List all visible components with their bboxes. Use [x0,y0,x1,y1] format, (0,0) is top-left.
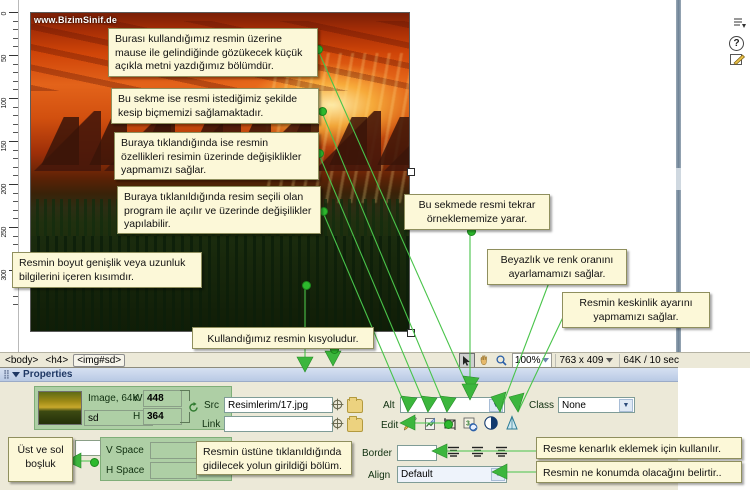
leader-dot [444,420,453,429]
ruler-tick [13,64,18,65]
resample-callout: Bu sekmede resmi tekrar örneklememize ya… [404,194,550,230]
ruler-tick [13,158,18,159]
chevron-down-icon[interactable]: ▼ [619,399,633,412]
edit-label: Edit [381,420,398,431]
window-size-combo[interactable]: 763 x 409 [555,354,616,367]
pencil-edit-icon[interactable] [402,416,418,432]
reset-size-icon[interactable] [188,402,199,416]
align-value: Default [401,469,433,480]
resize-handle-corner[interactable] [407,329,415,337]
ruler-tick [13,244,18,245]
class-label: Class [529,400,554,411]
align-center-icon[interactable] [471,446,485,457]
download-size: 64K / 10 sec [619,354,682,367]
status-bar-right: 100% 763 x 409 64K / 10 sec [459,353,682,368]
spacing-callout: Üst ve sol boşluk [8,437,73,482]
chevron-down-icon [606,358,613,363]
ruler-tick [13,167,18,168]
border-label: Border [362,448,392,459]
ruler-tick [13,81,18,82]
ruler-tick [13,296,18,297]
ruler-tick [9,98,18,99]
ruler-tick [9,227,18,228]
properties-panel-title: Properties [23,369,72,380]
leader-dot [90,458,99,467]
ruler-tick [13,210,18,211]
chevron-down-icon[interactable]: ▼ [491,468,505,481]
ruler-tick [13,201,18,202]
chevron-down-icon[interactable]: ▼ [489,399,503,412]
border-input[interactable] [397,445,437,461]
ruler-tick [13,46,18,47]
ruler-tick [13,304,18,305]
panel-options-icon[interactable] [734,18,746,28]
panel-grip-icon[interactable]: ⣿ [3,369,9,380]
properties-panel-header[interactable]: ⣿ Properties [0,368,678,382]
editprogram-callout: Buraya tıklanıldığında resim seçili olan… [117,186,321,234]
alt-callout: Burası kullandığımız resmin üzerine maus… [108,28,318,77]
ruler-tick [13,89,18,90]
width-label: W [133,393,142,404]
link-callout: Resmin üstüne tıklanıldığında gidilecek … [196,441,352,475]
ruler-tick [13,124,18,125]
ruler-tick [13,175,18,176]
size-bracket-top [180,390,190,401]
tag-selector[interactable]: <body> <h4> <img#sd> [0,354,125,367]
vspace-input[interactable] [150,442,197,459]
zoom-level-combo[interactable]: 100% [512,353,553,368]
ruler-tick [13,38,18,39]
brightness-callout: Beyazlık ve renk oranını ayarlamamızı sa… [487,249,627,285]
ruler-tick [13,132,18,133]
ruler-tick [13,193,18,194]
screenshot-root: 050100150200250300 www.BizimSinif.de <bo… [0,0,750,489]
ruler-label: 0 [1,12,8,16]
tag-img-sd[interactable]: <img#sd> [73,354,125,367]
quick-tag-editor-icon[interactable] [730,52,746,66]
ruler-tick [13,107,18,108]
resize-handle-right[interactable] [407,168,415,176]
tag-h4[interactable]: <h4> [43,355,70,366]
ruler-label: 100 [1,98,8,108]
ruler-tick [13,218,18,219]
leader-dot [318,107,327,116]
height-input[interactable]: 364 [143,408,182,425]
src-callout: Kullandığımız resmin kısyoludur. [192,327,374,349]
link-point-to-file-icon[interactable] [331,417,344,430]
hand-tool-icon[interactable] [478,354,492,367]
optimize-icon[interactable] [422,416,438,432]
image-size-label: Image, 64K [88,393,139,404]
align-label: Align [368,470,390,481]
alt-label: Alt [383,400,395,411]
src-label: Src [204,400,219,411]
align-callout: Resmin ne konumda olacağını belirtir.. [536,461,742,483]
ruler-tick [13,72,18,73]
help-question-icon[interactable]: ? [729,36,744,51]
resample-icon[interactable]: 3 [462,416,478,432]
zoom-tool-icon[interactable] [495,354,509,367]
chevron-down-icon [542,358,549,363]
ruler-label: 50 [1,55,8,62]
optimize-callout: Buraya tıklandığında ise resmin özellikl… [114,132,319,180]
align-left-icon[interactable] [447,446,461,457]
vspace-label: V Space [106,445,144,456]
link-browse-icon[interactable] [347,418,363,432]
status-bar: <body> <h4> <img#sd> 100% 763 x 409 64K … [0,352,750,368]
brightness-contrast-icon[interactable] [483,415,499,431]
ruler-tick [13,236,18,237]
leader-dot [302,281,311,290]
ruler-tick [9,12,18,13]
ruler-tick [13,150,18,151]
align-right-icon[interactable] [495,446,509,457]
sharpen-icon[interactable] [504,415,520,431]
border-callout: Resme kenarlık eklemek için kullanılır. [536,437,742,459]
ruler-tick [9,141,18,142]
class-combo[interactable]: None ▼ [558,397,635,413]
point-to-file-icon[interactable] [331,398,344,411]
ruler-tick [13,115,18,116]
ruler-tick [13,29,18,30]
pointer-tool-icon[interactable] [459,353,475,368]
map-name-input[interactable] [75,440,101,456]
ruler-tick [9,55,18,56]
class-value: None [562,400,586,411]
hspace-label: H Space [106,465,144,476]
width-input[interactable]: 448 [143,390,182,407]
ruler-tick [9,184,18,185]
link-input[interactable] [224,416,333,432]
align-combo[interactable]: Default ▼ [397,466,507,483]
alt-combo[interactable]: ▼ [400,397,505,413]
ruler-tick [13,21,18,22]
watermark-text: www.BizimSinif.de [34,15,117,25]
ruler-label: 200 [1,184,8,194]
zoom-level-value: 100% [515,355,541,366]
image-thumbnail [38,391,82,425]
sharpen-callout: Resmin keskinlik ayarını yapmamızı sağla… [562,292,710,328]
crop-callout: Bu sekme ise resmi istediğimiz şekilde k… [111,88,319,124]
ruler-label: 300 [1,270,8,280]
size-callout: Resmin boyut genişlik veya uzunluk bilgi… [12,252,202,288]
ruler-label: 150 [1,141,8,151]
window-size-value: 763 x 409 [559,355,603,366]
tag-body[interactable]: <body> [3,355,40,366]
src-input[interactable]: Resimlerim/17.jpg [224,397,333,413]
browse-file-icon[interactable] [347,399,363,413]
vertical-ruler: 050100150200250300 [0,0,19,352]
link-label: Link [202,419,220,430]
ruler-label: 250 [1,227,8,237]
collapse-triangle-icon [12,372,20,378]
hspace-input[interactable] [150,462,197,479]
height-label: H [133,411,140,422]
